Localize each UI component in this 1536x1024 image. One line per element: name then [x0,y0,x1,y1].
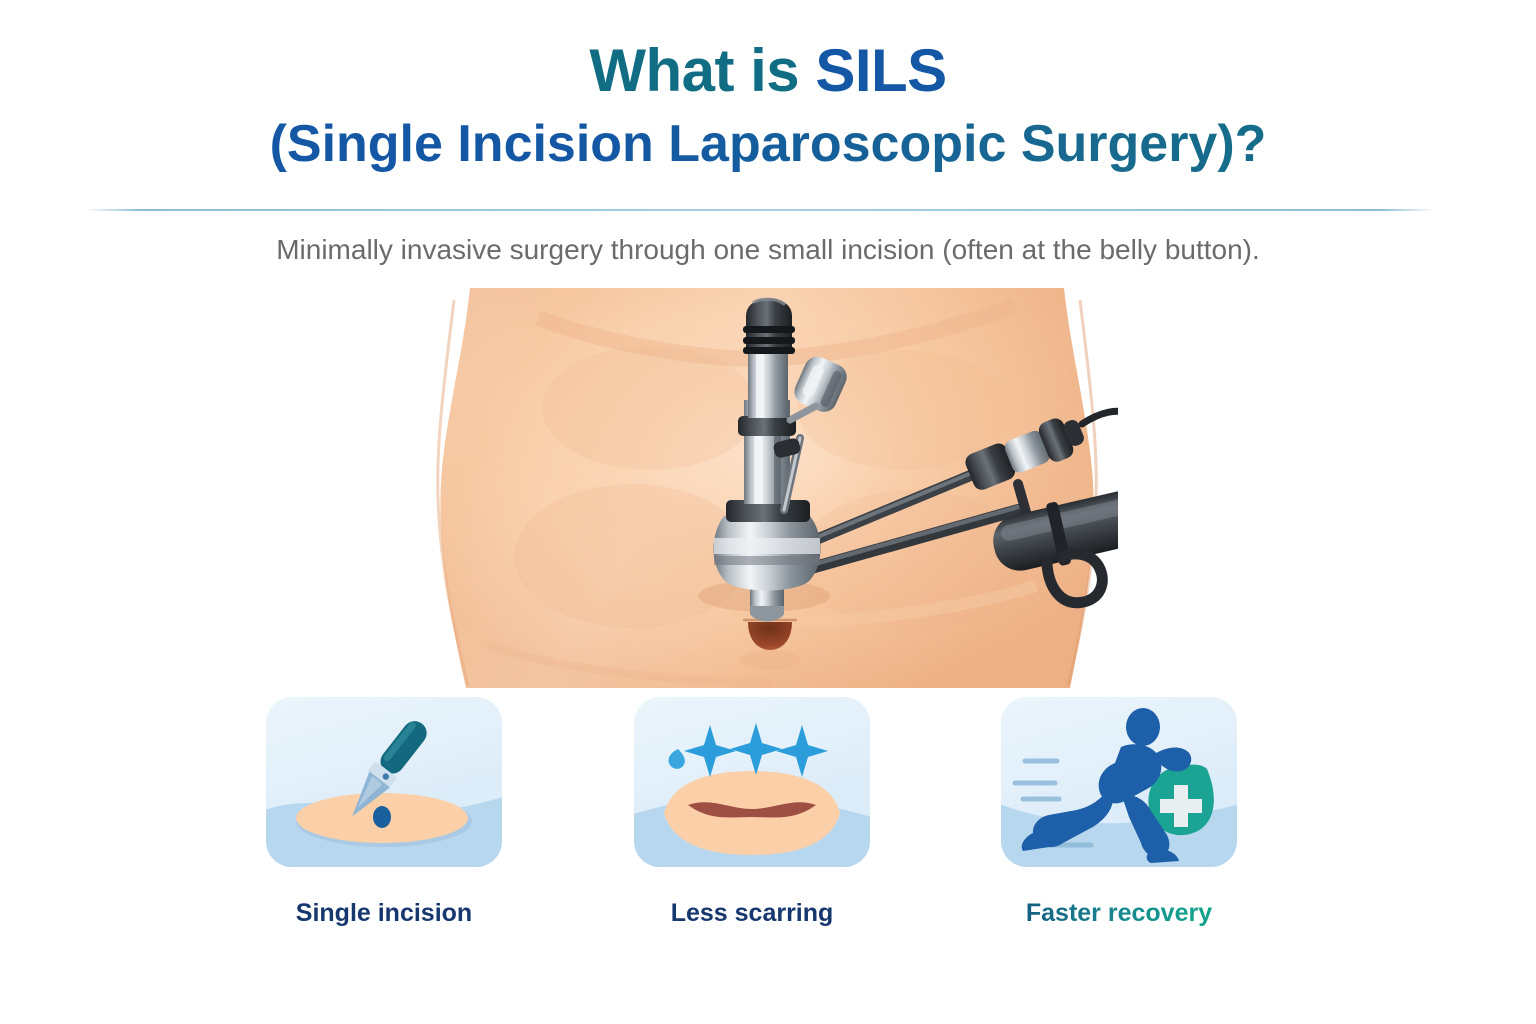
hero-illustration [418,288,1118,688]
healed-scar-sparkle-icon [634,697,870,867]
benefit-card-label: Single incision [266,899,502,928]
title-divider [85,209,1435,211]
card-tile [634,697,870,867]
title-block: What is SILS (Single Incision Laparoscop… [0,34,1536,180]
scalpel-icon [266,697,502,867]
benefit-card-single-incision[interactable]: Single incision [266,697,502,928]
card-tile [266,697,502,867]
benefit-card-label: Less scarring [634,899,870,928]
running-person-medical-cross-icon [1001,697,1237,867]
benefit-card-less-scarring[interactable]: Less scarring [634,697,870,928]
port-cap [743,298,795,354]
page-subtitle: Minimally invasive surgery through one s… [0,234,1536,266]
abdomen-laparoscopy-figure [418,288,1118,688]
title-sils: SILS [815,37,946,104]
benefit-card-faster-recovery[interactable]: Faster recovery [1001,697,1237,928]
page-title-line-1: What is SILS [0,34,1536,108]
infographic-canvas: What is SILS (Single Incision Laparoscop… [0,0,1536,1024]
card-tile [1001,697,1237,867]
page-title-line-2: (Single Incision Laparoscopic Surgery)? [0,108,1536,180]
sparkle-group [684,723,828,777]
benefit-card-label: Faster recovery [1001,899,1237,928]
benefit-cards: Single incision Less sc [0,697,1536,957]
title-what-is: What is [589,37,815,104]
